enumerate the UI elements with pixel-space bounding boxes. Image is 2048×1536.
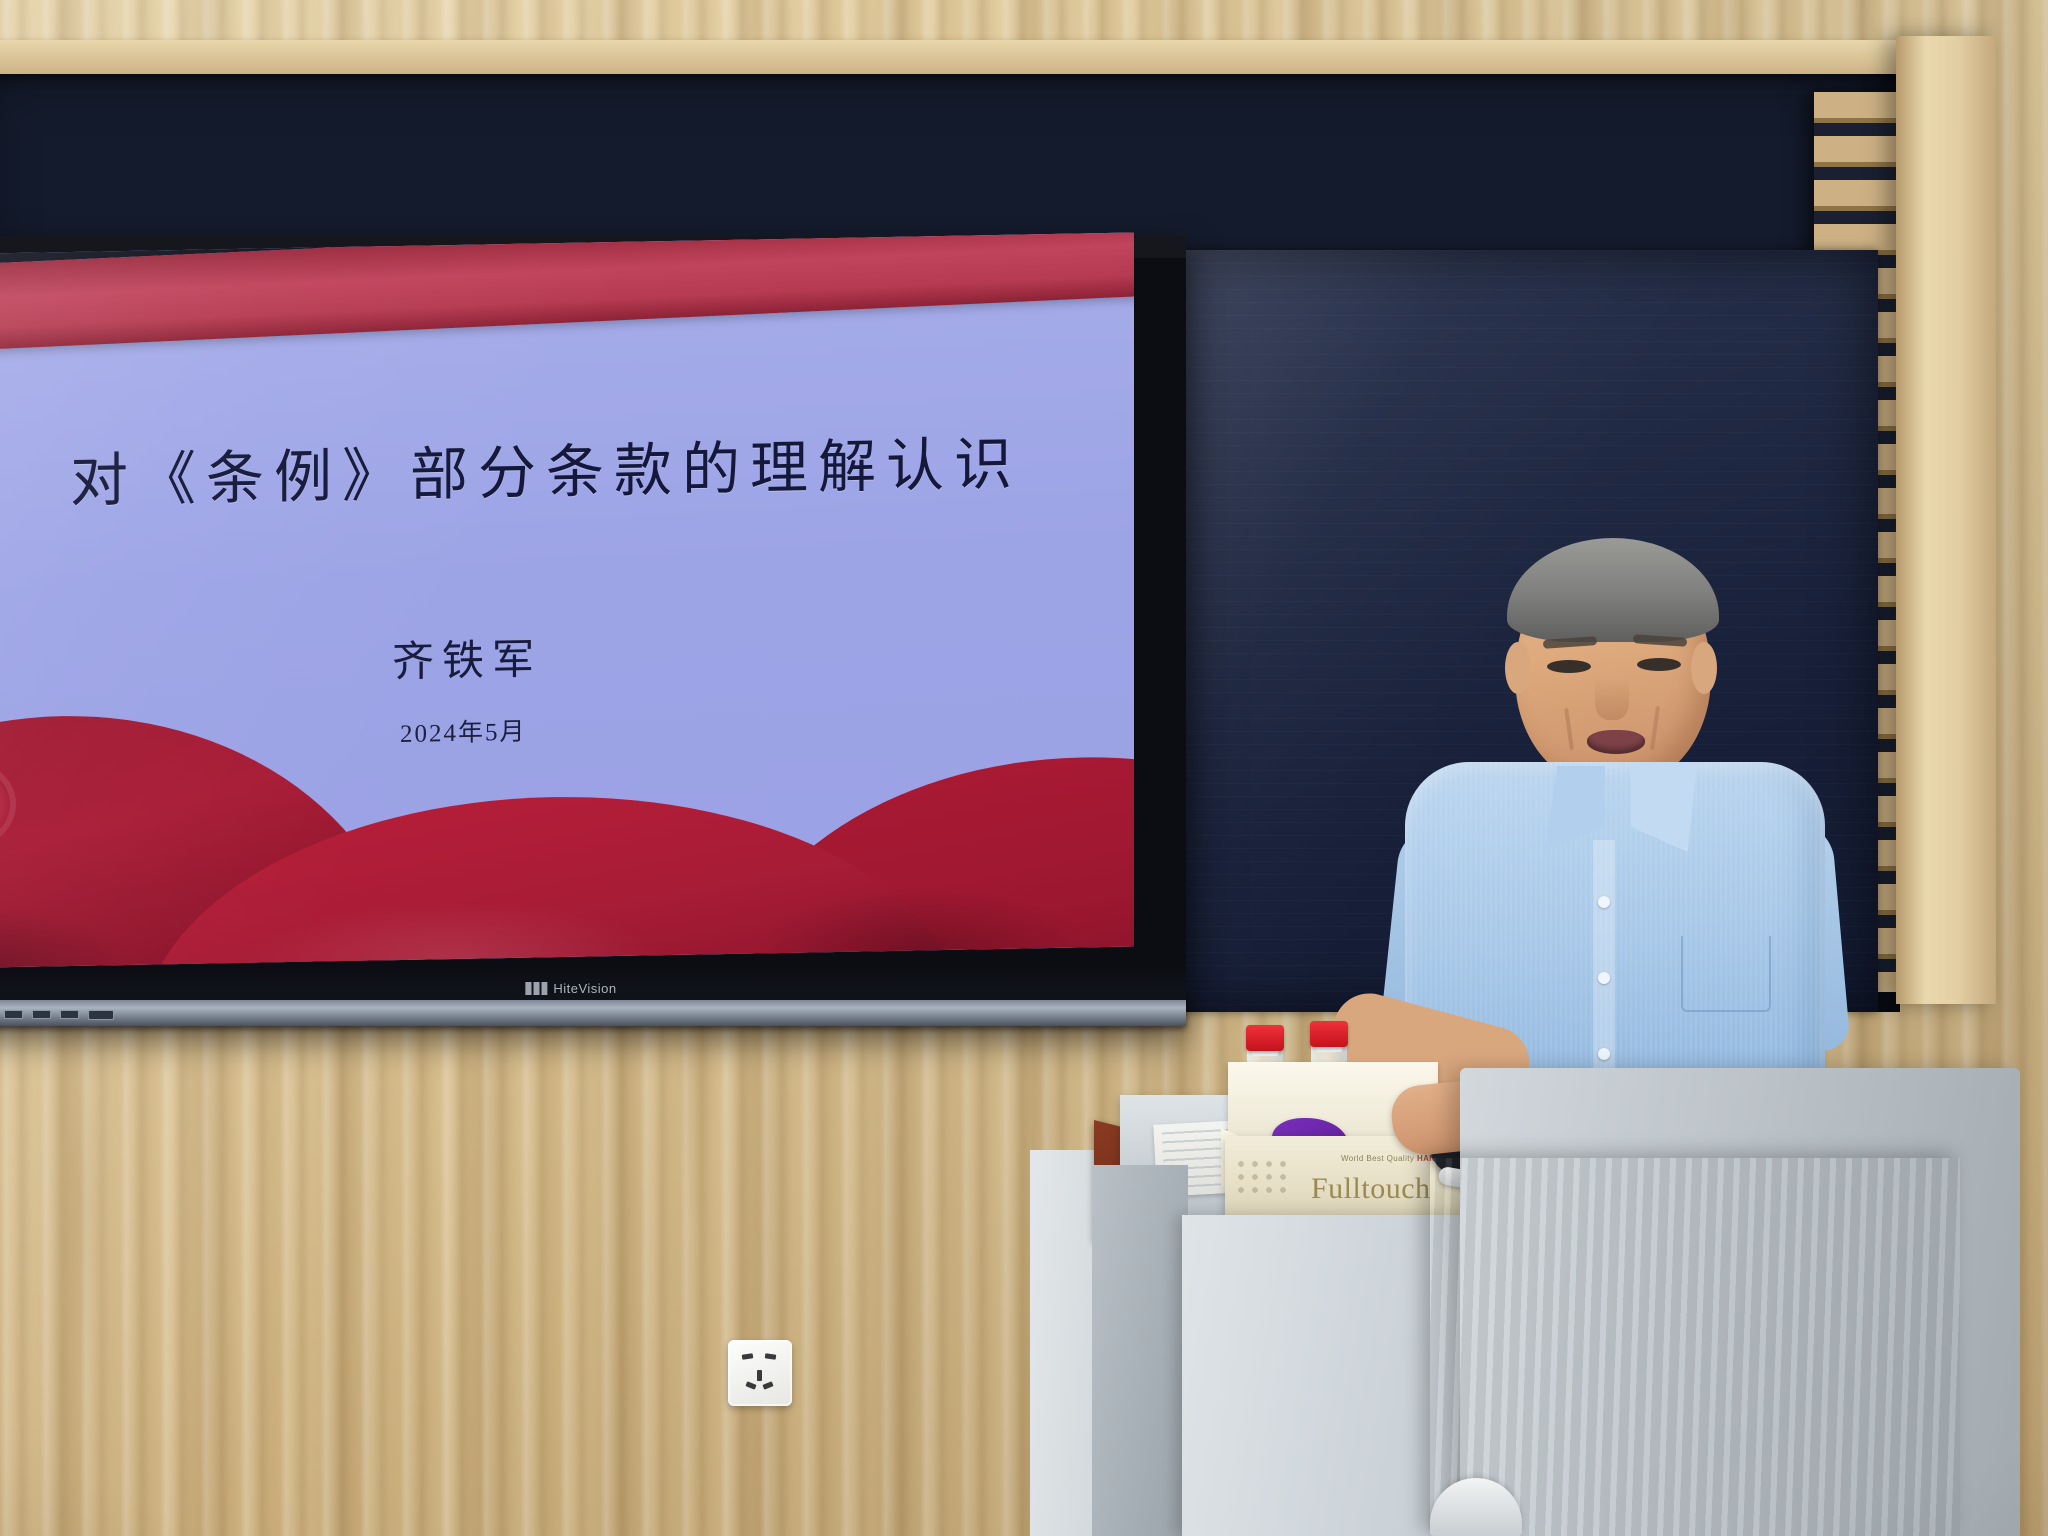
shirt-pocket — [1681, 936, 1771, 1012]
outlet-slot-icon — [745, 1381, 756, 1389]
box-dot-pattern-icon — [1235, 1158, 1293, 1200]
shirt-button — [1598, 1048, 1610, 1060]
tagline-text: World Best Quality — [1341, 1154, 1414, 1163]
eye-left — [1547, 660, 1591, 673]
paper-box-brand: Fulltouch — [1311, 1172, 1431, 1206]
display-brand: HiteVision — [525, 981, 616, 996]
hdmi-port-icon[interactable] — [88, 1010, 114, 1020]
display-chin-strip — [0, 1000, 1186, 1026]
silk-fold-shading — [0, 824, 1134, 968]
ear-right — [1691, 642, 1717, 694]
slide-date: 2024年5月 — [400, 712, 527, 750]
display-screen[interactable]: 对《条例》部分条款的理解认识 齐铁军 2024年5月 — [0, 233, 1134, 968]
classroom-scene: 对《条例》部分条款的理解认识 齐铁军 2024年5月 HiteVision — [0, 0, 2048, 1536]
ear-left — [1505, 642, 1531, 694]
mouth — [1587, 730, 1645, 754]
usb-port-icon[interactable] — [32, 1010, 51, 1019]
interactive-smart-display[interactable]: 对《条例》部分条款的理解认识 齐铁军 2024年5月 HiteVision — [0, 236, 1186, 1026]
shirt-button — [1598, 896, 1610, 908]
outlet-slot-icon — [762, 1381, 773, 1389]
shirt-placket — [1593, 840, 1615, 1102]
slide-author: 齐铁军 — [392, 625, 542, 689]
eye-right — [1637, 658, 1681, 671]
hitevision-logo-icon — [525, 982, 547, 995]
nose — [1595, 678, 1629, 720]
power-outlet[interactable] — [728, 1340, 792, 1406]
usb-port-icon[interactable] — [60, 1010, 79, 1019]
shirt-button — [1598, 972, 1610, 984]
lectern-wood-panel — [1430, 1158, 1960, 1536]
niche-right-post — [1896, 36, 1996, 1004]
bottle-cap — [1310, 1021, 1348, 1047]
outlet-slot-icon — [757, 1370, 762, 1381]
hair — [1507, 538, 1719, 642]
slide-title: 对《条例》部分条款的理解认识 — [70, 418, 970, 518]
bottle-cap — [1246, 1025, 1284, 1051]
podium-side-panel — [1092, 1165, 1188, 1536]
outlet-slot-icon — [765, 1353, 777, 1359]
display-port-row[interactable] — [0, 1009, 114, 1020]
usb-port-icon[interactable] — [4, 1010, 23, 1019]
niche-top-frame — [0, 40, 1910, 74]
presenter — [1395, 540, 1835, 1100]
display-brand-label: HiteVision — [553, 981, 616, 996]
outlet-slot-icon — [742, 1353, 754, 1359]
